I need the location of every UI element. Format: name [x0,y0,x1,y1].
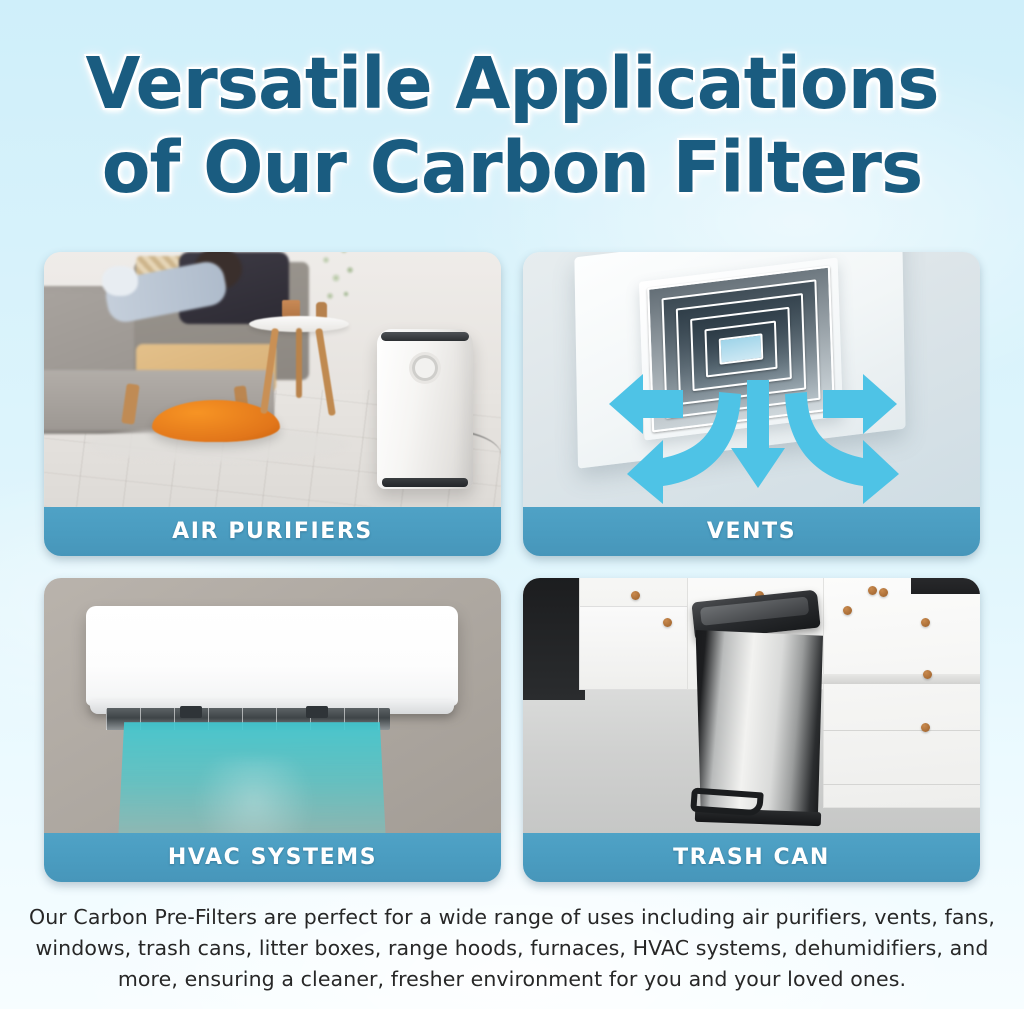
page-title: Versatile Applications of Our Carbon Fil… [0,0,1024,210]
trash-can-pedal [690,788,763,817]
caption-bar-air-purifiers: AIR PURIFIERS [44,507,501,556]
footer-description: Our Carbon Pre-Filters are perfect for a… [0,902,1024,995]
footer-paragraph: Our Carbon Pre-Filters are perfect for a… [26,902,998,995]
application-cards-grid: AIR PURIFIERS [44,252,980,882]
title-line-2: of Our Carbon Filters [0,126,1024,210]
card-trash-can[interactable]: TRASH CAN [523,578,980,882]
photo-ceiling-vent-airflow [523,252,980,507]
card-vents[interactable]: VENTS [523,252,980,556]
card-air-purifiers[interactable]: AIR PURIFIERS [44,252,501,556]
photo-living-room-air-purifier [44,252,501,507]
caption-label: HVAC SYSTEMS [168,845,377,870]
caption-label: AIR PURIFIERS [172,519,373,544]
card-hvac-systems[interactable]: HVAC SYSTEMS [44,578,501,882]
airflow-arrows-icon [523,252,980,507]
mini-split-ac-unit [86,606,458,706]
caption-bar-hvac-systems: HVAC SYSTEMS [44,833,501,882]
title-line-1: Versatile Applications [0,42,1024,126]
photo-mini-split-hvac-airflow [44,578,501,833]
air-purifier-appliance [377,329,473,489]
photo-kitchen-trash-can [523,578,980,833]
caption-bar-vents: VENTS [523,507,980,556]
caption-label: VENTS [707,519,796,544]
caption-bar-trash-can: TRASH CAN [523,833,980,882]
caption-label: TRASH CAN [673,845,830,870]
